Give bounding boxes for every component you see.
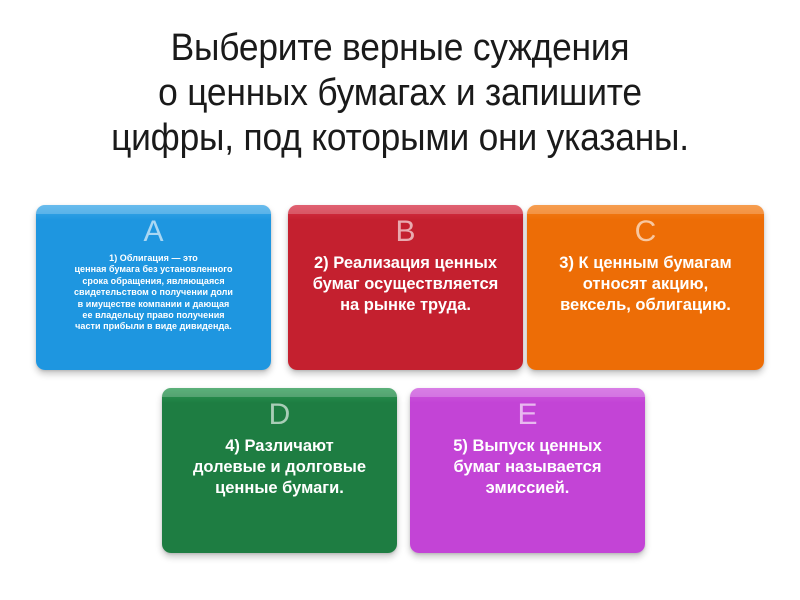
answer-card-e-letter: E <box>517 398 537 432</box>
answer-card-b[interactable]: B 2) Реализация ценных бумаг осуществляе… <box>288 205 523 370</box>
answer-card-c[interactable]: C 3) К ценным бумагам относят акцию, век… <box>527 205 764 370</box>
answer-card-e[interactable]: E 5) Выпуск ценных бумаг называется эмис… <box>410 388 645 553</box>
answer-card-a-letter: A <box>143 215 163 249</box>
quiz-activity: Выберите верные суждения о ценных бумага… <box>0 0 800 600</box>
answer-card-c-letter: C <box>635 215 657 249</box>
answer-card-d-letter: D <box>269 398 291 432</box>
answer-card-a[interactable]: A 1) Облигация — это ценная бумага без у… <box>36 205 271 370</box>
answer-card-d-text: 4) Различают долевые и долговые ценные б… <box>193 436 366 499</box>
answer-card-c-text: 3) К ценным бумагам относят акцию, вексе… <box>559 253 731 316</box>
answer-card-b-letter: B <box>395 215 415 249</box>
answer-card-b-text: 2) Реализация ценных бумаг осуществляетс… <box>313 253 499 316</box>
answer-card-e-text: 5) Выпуск ценных бумаг называется эмисси… <box>453 436 602 499</box>
answer-card-a-text: 1) Облигация — это ценная бумага без уст… <box>74 253 233 333</box>
question-title: Выберите верные суждения о ценных бумага… <box>28 26 772 161</box>
answer-card-d[interactable]: D 4) Различают долевые и долговые ценные… <box>162 388 397 553</box>
